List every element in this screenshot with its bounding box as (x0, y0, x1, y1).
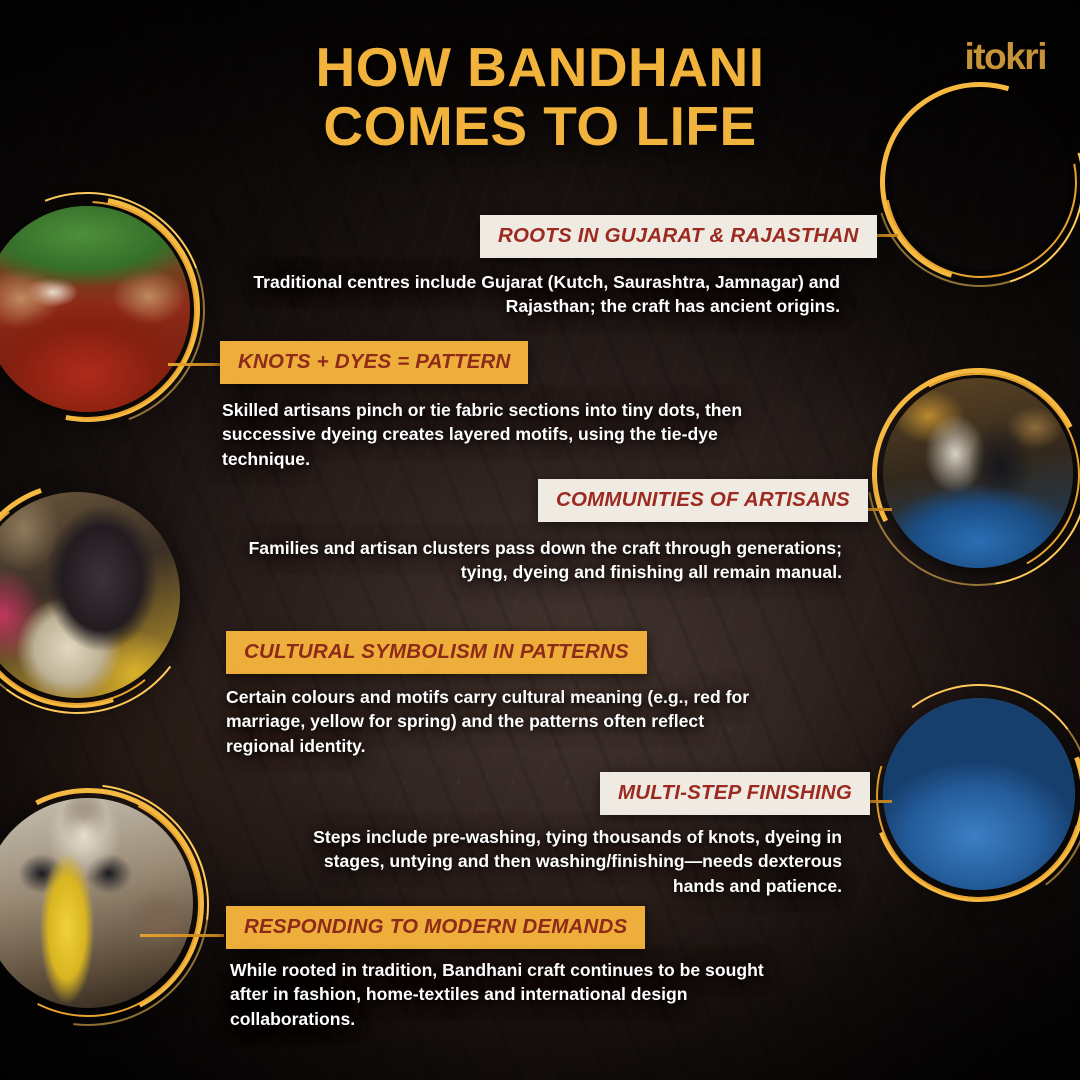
photo-frame-artisan-lifting-yellow-cloth (0, 788, 204, 1020)
section-heading-knots-dyes-pattern[interactable]: KNOTS + DYES = PATTERN (220, 341, 528, 384)
section-heading-label: KNOTS + DYES = PATTERN (238, 350, 510, 373)
photo-hands-tying-red-fabric-image (0, 206, 190, 412)
section-heading-cultural-symbolism-in-patterns[interactable]: CULTURAL SYMBOLISM IN PATTERNS (226, 631, 647, 674)
section-body-responding-to-modern-demands: While rooted in tradition, Bandhani craf… (230, 958, 786, 1031)
brand-logo-text: itokri (965, 36, 1046, 77)
section-heading-multi-step-finishing[interactable]: MULTI-STEP FINISHING (600, 772, 870, 815)
photo-artisan-lifting-yellow-cloth (0, 798, 193, 1008)
section-heading-label: RESPONDING TO MODERN DEMANDS (244, 915, 627, 938)
connector-line-5 (140, 934, 224, 937)
brand-logo[interactable]: itokri (965, 38, 1046, 75)
photo-artisan-dyeing-dark-cloth (883, 378, 1073, 568)
photo-women-tying-bandhani-knots (892, 92, 1070, 270)
section-body-knots-dyes-pattern: Skilled artisans pinch or tie fabric sec… (222, 398, 762, 471)
photo-woman-tying-white-cloth (0, 492, 180, 698)
connector-line-2 (168, 363, 220, 366)
photo-frame-hands-tying-red-fabric (0, 196, 200, 422)
section-body-multi-step-finishing: Steps include pre-washing, tying thousan… (312, 825, 842, 898)
photo-frame-women-tying-bandhani-knots (880, 82, 1080, 282)
section-heading-communities-of-artisans[interactable]: COMMUNITIES OF ARTISANS (538, 479, 868, 522)
section-body-communities-of-artisans: Families and artisan clusters pass down … (240, 536, 842, 585)
section-heading-responding-to-modern-demands[interactable]: RESPONDING TO MODERN DEMANDS (226, 906, 645, 949)
photo-artisan-dyeing-dark-cloth-image (883, 378, 1073, 568)
section-heading-label: COMMUNITIES OF ARTISANS (556, 488, 850, 511)
photo-women-tying-bandhani-knots-image (892, 92, 1070, 270)
photo-woman-tying-white-cloth-image (0, 492, 180, 698)
photo-frame-indigo-dye-vat (872, 688, 1080, 902)
section-heading-label: ROOTS IN GUJARAT & RAJASTHAN (498, 224, 859, 247)
photo-artisan-lifting-yellow-cloth-image (0, 798, 193, 1008)
section-heading-roots-in-gujarat-rajasthan[interactable]: ROOTS IN GUJARAT & RAJASTHAN (480, 215, 877, 258)
section-heading-label: MULTI-STEP FINISHING (618, 781, 852, 804)
photo-hands-tying-red-fabric (0, 206, 190, 412)
photo-frame-artisan-dyeing-dark-cloth (872, 368, 1080, 580)
infographic-poster: HOW BANDHANI COMES TO LIFE itokri (0, 0, 1080, 1080)
section-heading-label: CULTURAL SYMBOLISM IN PATTERNS (244, 640, 629, 663)
photo-frame-woman-tying-white-cloth (0, 482, 190, 708)
photo-indigo-dye-vat-image (883, 698, 1075, 890)
section-body-roots-in-gujarat-rajasthan: Traditional centres include Gujarat (Kut… (250, 270, 840, 319)
section-body-cultural-symbolism-in-patterns: Certain colours and motifs carry cultura… (226, 685, 774, 758)
photo-indigo-dye-vat (883, 698, 1075, 890)
